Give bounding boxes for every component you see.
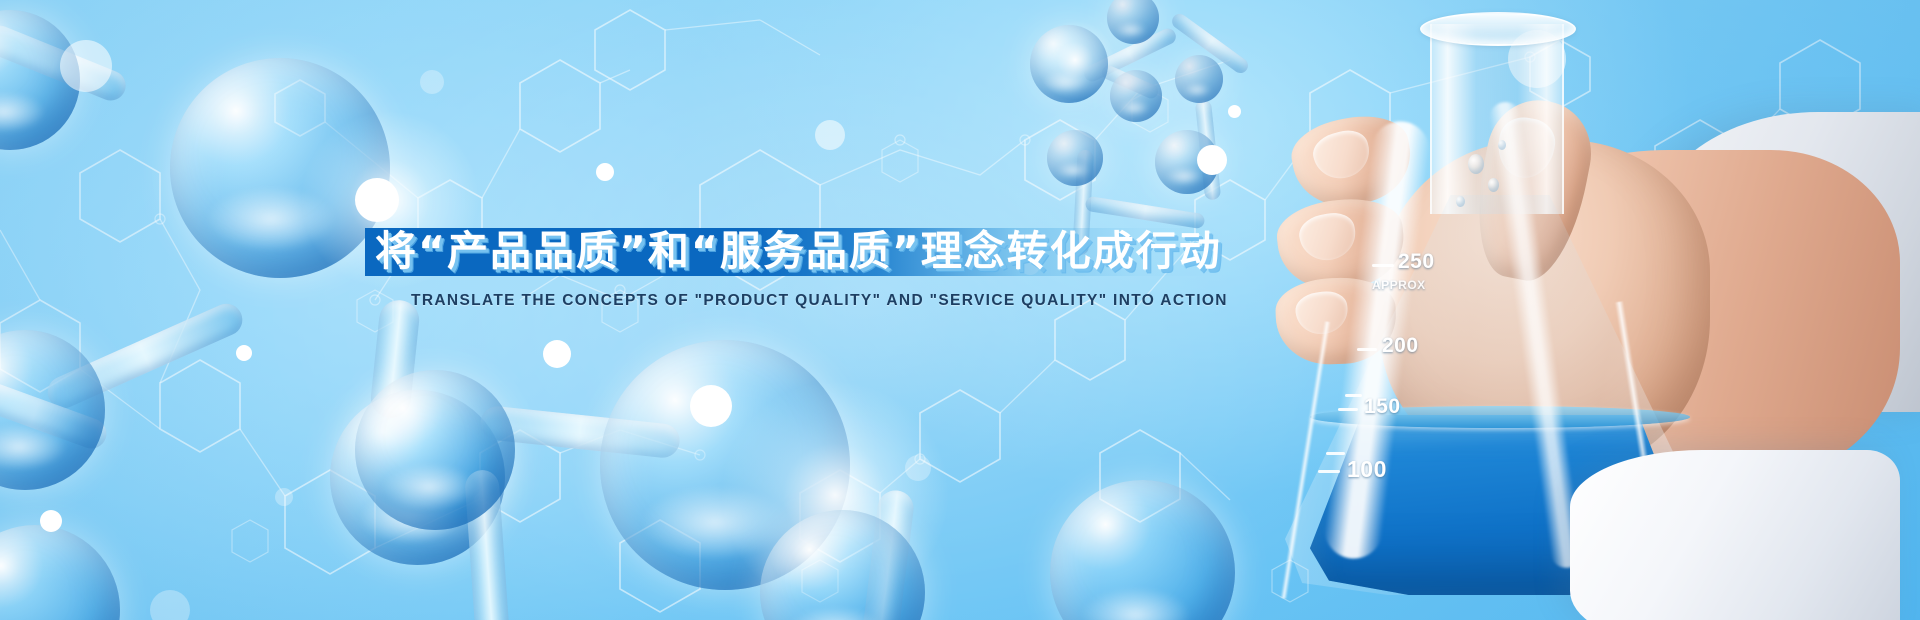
flask-rim [1420,12,1576,46]
graduation-tick [1326,452,1345,455]
hand-holding-flask-photo: 250 APPROX 200 150 100 [1230,0,1920,620]
water-droplet [1498,140,1506,150]
page-title: 将“产品品质”和“服务品质”理念转化成行动 [375,231,1222,272]
graduation-tick [1372,264,1394,267]
water-droplet [1456,196,1465,207]
graduation-label-200: 200 [1382,334,1419,358]
hero-banner: 250 APPROX 200 150 100 将“产品品质”和“服务品质”理念转… [0,0,1920,620]
graduation-tick [1357,348,1377,351]
lab-coat [1570,450,1900,620]
graduation-tick [1345,394,1362,397]
graduation-label-100: 100 [1347,456,1387,483]
graduation-label-150: 150 [1364,395,1401,419]
water-droplet [1488,178,1499,192]
graduation-label-250: 250 [1398,250,1435,274]
graduation-label-approx: APPROX [1372,278,1426,292]
water-droplet [1468,154,1484,174]
graduation-tick [1318,470,1340,473]
page-subtitle: TRANSLATE THE CONCEPTS OF "PRODUCT QUALI… [411,292,1228,310]
graduation-tick [1338,408,1358,411]
